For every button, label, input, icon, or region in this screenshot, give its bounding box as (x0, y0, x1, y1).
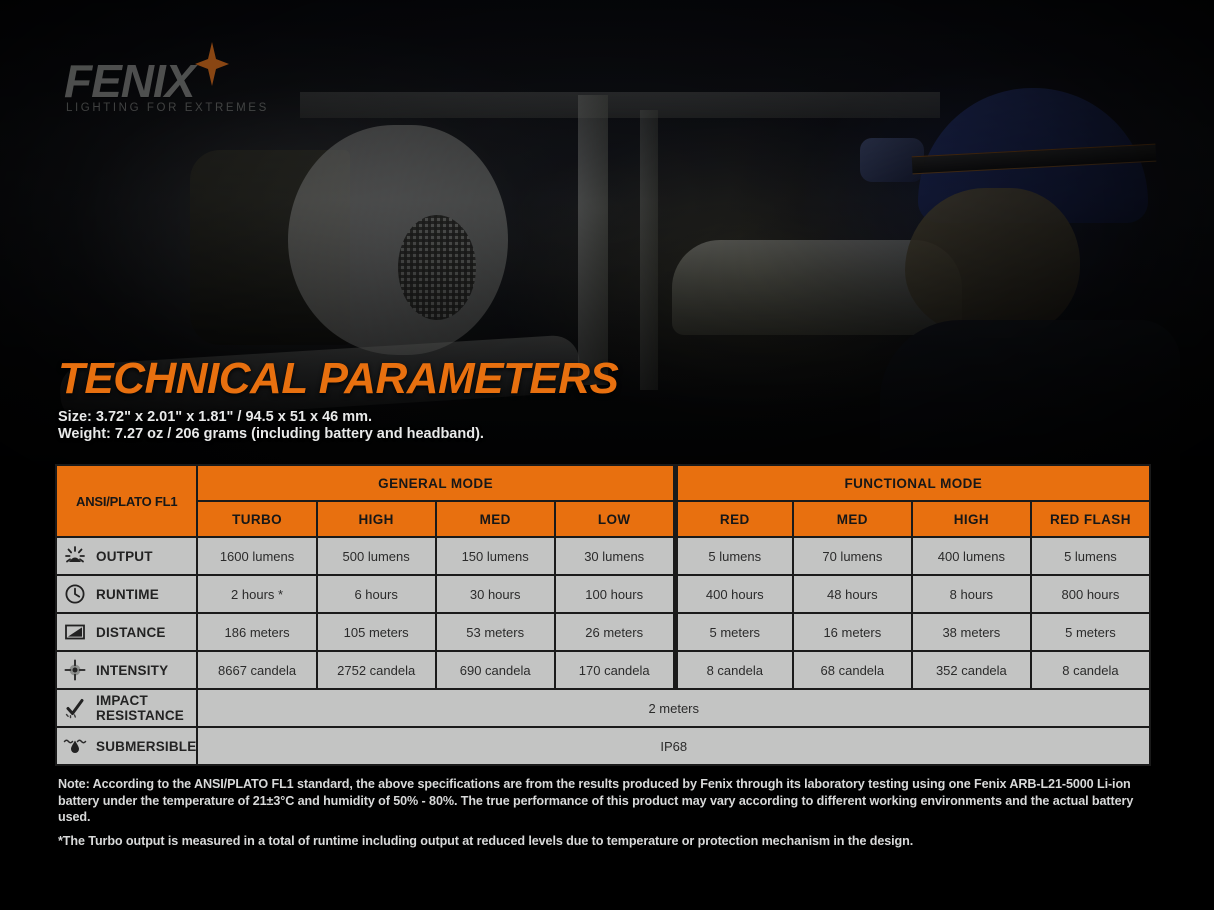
page-title: TECHNICAL PARAMETERS (58, 354, 618, 404)
output-rays-icon (63, 544, 87, 568)
crosshair-intensity-icon (63, 658, 87, 682)
table-row-distance: DISTANCE 186 meters 105 meters 53 meters… (57, 614, 1149, 650)
cell-output-med: 150 lumens (437, 538, 554, 574)
column-header-low: LOW (556, 502, 673, 536)
table-column-header-row: TURBO HIGH MED LOW RED MED HIGH RED FLAS… (57, 502, 1149, 536)
row-label-runtime: RUNTIME (57, 576, 196, 612)
cell-output-high: 500 lumens (318, 538, 435, 574)
column-header-med-func: MED (794, 502, 911, 536)
cell-runtime-high-func: 8 hours (913, 576, 1030, 612)
photo-vignette (0, 0, 1214, 910)
row-label-impact-resistance: IMPACT RESISTANCE (57, 690, 196, 726)
cell-intensity-red-flash: 8 candela (1032, 652, 1149, 688)
row-label-distance: DISTANCE (57, 614, 196, 650)
table-body: OUTPUT 1600 lumens 500 lumens 150 lumens… (57, 538, 1149, 764)
cell-distance-red: 5 meters (675, 614, 792, 650)
cell-intensity-low: 170 candela (556, 652, 673, 688)
row-label-runtime-text: RUNTIME (96, 587, 159, 602)
clock-icon (63, 582, 87, 606)
column-header-turbo: TURBO (198, 502, 315, 536)
table-row-impact-resistance: IMPACT RESISTANCE 2 meters (57, 690, 1149, 726)
table-head: ANSI/PLATO FL1 GENERAL MODE FUNCTIONAL M… (57, 466, 1149, 536)
weight-line: Weight: 7.27 oz / 206 grams (including b… (58, 426, 484, 443)
column-header-high: HIGH (318, 502, 435, 536)
cell-distance-high-func: 38 meters (913, 614, 1030, 650)
column-header-red-flash: RED FLASH (1032, 502, 1149, 536)
logo-wordmark: FENIX (64, 54, 194, 108)
cell-runtime-red-flash: 800 hours (1032, 576, 1149, 612)
cell-impact-resistance-value: 2 meters (198, 690, 1149, 726)
ansi-plato-label: ANSI/PLATO FL1 (57, 466, 196, 536)
background-photo (0, 0, 1214, 910)
cell-distance-low: 26 meters (556, 614, 673, 650)
cell-runtime-red: 400 hours (675, 576, 792, 612)
beam-distance-icon (63, 620, 87, 644)
row-label-submersible: SUBMERSIBLE (57, 728, 196, 764)
row-label-impact-resistance-text: IMPACT RESISTANCE (96, 693, 196, 723)
group-header-functional-mode: FUNCTIONAL MODE (675, 466, 1149, 500)
cell-distance-red-flash: 5 meters (1032, 614, 1149, 650)
table-row-output: OUTPUT 1600 lumens 500 lumens 150 lumens… (57, 538, 1149, 574)
column-header-med: MED (437, 502, 554, 536)
column-header-high-func: HIGH (913, 502, 1030, 536)
product-dimensions: Size: 3.72" x 2.01" x 1.81" / 94.5 x 51 … (58, 409, 484, 443)
cell-output-high-func: 400 lumens (913, 538, 1030, 574)
cell-distance-turbo: 186 meters (198, 614, 315, 650)
cell-distance-med-func: 16 meters (794, 614, 911, 650)
cell-output-turbo: 1600 lumens (198, 538, 315, 574)
cell-runtime-low: 100 hours (556, 576, 673, 612)
cell-output-low: 30 lumens (556, 538, 673, 574)
column-header-red: RED (675, 502, 792, 536)
row-label-intensity: INTENSITY (57, 652, 196, 688)
cell-intensity-med: 690 candela (437, 652, 554, 688)
cell-output-red-flash: 5 lumens (1032, 538, 1149, 574)
cell-intensity-med-func: 68 candela (794, 652, 911, 688)
cell-intensity-high: 2752 candela (318, 652, 435, 688)
cell-runtime-turbo: 2 hours * (198, 576, 315, 612)
row-label-intensity-text: INTENSITY (96, 663, 168, 678)
fenix-logo: FENIX LIGHTING FOR EXTREMES (62, 36, 292, 124)
cell-submersible-value: IP68 (198, 728, 1149, 764)
water-drop-icon (63, 734, 87, 758)
row-label-distance-text: DISTANCE (96, 625, 166, 640)
table-row-submersible: SUBMERSIBLE IP68 (57, 728, 1149, 764)
size-line: Size: 3.72" x 2.01" x 1.81" / 94.5 x 51 … (58, 409, 484, 426)
cell-runtime-med-func: 48 hours (794, 576, 911, 612)
cell-distance-high: 105 meters (318, 614, 435, 650)
row-label-output: OUTPUT (57, 538, 196, 574)
cell-output-med-func: 70 lumens (794, 538, 911, 574)
cell-runtime-med: 30 hours (437, 576, 554, 612)
footnote-turbo: *The Turbo output is measured in a total… (58, 833, 1168, 850)
star-icon (195, 42, 229, 86)
cell-intensity-red: 8 candela (675, 652, 792, 688)
cell-intensity-high-func: 352 candela (913, 652, 1030, 688)
logo-tagline: LIGHTING FOR EXTREMES (66, 102, 269, 114)
row-label-output-text: OUTPUT (96, 549, 153, 564)
table-row-intensity: INTENSITY 8667 candela 2752 candela 690 … (57, 652, 1149, 688)
cell-distance-med: 53 meters (437, 614, 554, 650)
cell-intensity-turbo: 8667 candela (198, 652, 315, 688)
table-group-header-row: ANSI/PLATO FL1 GENERAL MODE FUNCTIONAL M… (57, 466, 1149, 500)
table-row-runtime: RUNTIME 2 hours * 6 hours 30 hours 100 h… (57, 576, 1149, 612)
cell-output-red: 5 lumens (675, 538, 792, 574)
footnote-standard: Note: According to the ANSI/PLATO FL1 st… (58, 776, 1168, 826)
impact-check-icon (63, 696, 87, 720)
technical-parameters-table: ANSI/PLATO FL1 GENERAL MODE FUNCTIONAL M… (55, 464, 1151, 766)
group-header-general-mode: GENERAL MODE (198, 466, 672, 500)
row-label-submersible-text: SUBMERSIBLE (96, 739, 196, 754)
cell-runtime-high: 6 hours (318, 576, 435, 612)
